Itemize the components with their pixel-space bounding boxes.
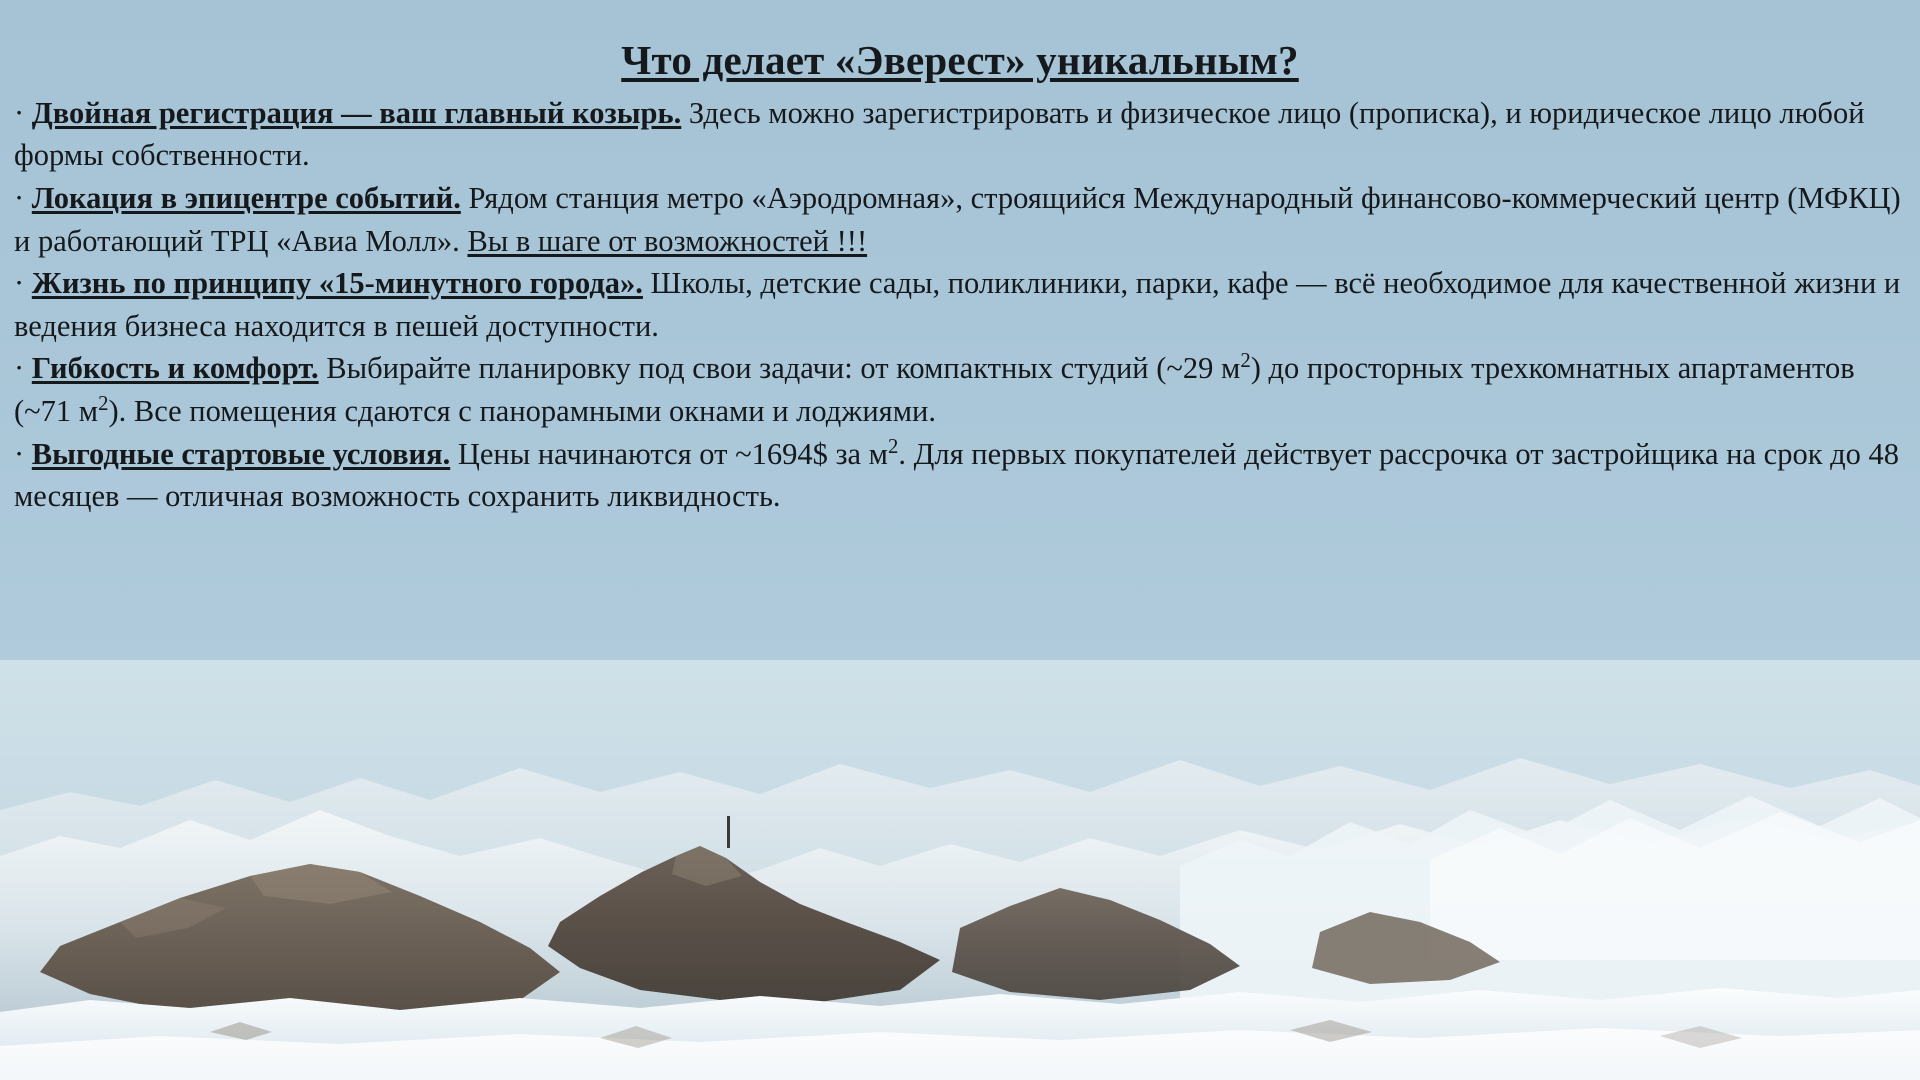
bullet-marker: · — [14, 181, 24, 215]
superscript-square-meters: 2 — [98, 393, 108, 415]
list-item: · Выгодные стартовые условия. Цены начин… — [14, 433, 1904, 518]
superscript-square-meters: 2 — [1240, 350, 1250, 372]
slide-content: Что делает «Эверест» уникальным? · Двойн… — [0, 0, 1920, 518]
bullet-lead: Выгодные стартовые условия. — [32, 437, 450, 471]
bullet-marker: · — [14, 437, 24, 471]
list-item: · Гибкость и комфорт. Выбирайте планиров… — [14, 347, 1904, 432]
bullet-list: · Двойная регистрация — ваш главный козы… — [0, 84, 1920, 518]
bullet-note: Вы в шаге от возможностей !!! — [467, 224, 867, 258]
bullet-marker: · — [14, 96, 24, 130]
bullet-marker: · — [14, 351, 24, 385]
bullet-lead: Жизнь по принципу «15-минутного города». — [32, 266, 643, 300]
mountain-photo — [0, 660, 1920, 1080]
bullet-lead: Гибкость и комфорт. — [32, 351, 319, 385]
bullet-body-part3: ). Все помещения сдаются с панорамными о… — [108, 394, 936, 428]
superscript-square-meters: 2 — [888, 436, 898, 458]
list-item: · Жизнь по принципу «15-минутного города… — [14, 262, 1904, 347]
presentation-slide: Что делает «Эверест» уникальным? · Двойн… — [0, 0, 1920, 1080]
list-item: · Локация в эпицентре событий. Рядом ста… — [14, 177, 1904, 262]
list-item: · Двойная регистрация — ваш главный козы… — [14, 92, 1904, 177]
bullet-lead: Локация в эпицентре событий. — [32, 181, 461, 215]
bullet-lead: Двойная регистрация — ваш главный козырь… — [32, 96, 681, 130]
bullet-body-part1: Выбирайте планировку под свои задачи: от… — [326, 351, 1240, 385]
bullet-body-part1: Цены начинаются от ~1694$ за м — [458, 437, 888, 471]
page-title-text: Что делает «Эверест» уникальным? — [621, 37, 1298, 83]
page-title: Что делает «Эверест» уникальным? — [0, 0, 1920, 84]
bullet-marker: · — [14, 266, 24, 300]
